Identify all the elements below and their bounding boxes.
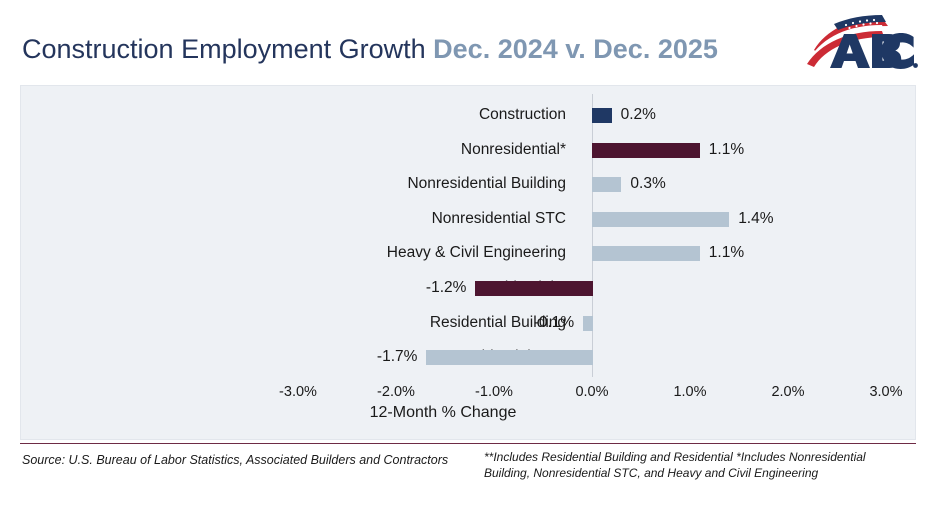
category-label: Heavy & Civil Engineering (21, 236, 566, 271)
bar-row: Residential Building-0.1% (21, 306, 915, 341)
bar-container: -1.2% (592, 271, 593, 306)
bar-container: 1.1% (592, 236, 593, 271)
x-axis-tick: 0.0% (547, 379, 637, 405)
x-axis-tick: 2.0% (743, 379, 833, 405)
bar-value-label: 0.2% (612, 98, 656, 133)
bar-container: 1.4% (592, 202, 593, 237)
bar-value-label: 1.1% (700, 133, 744, 168)
title-subtitle: Dec. 2024 v. Dec. 2025 (433, 34, 718, 64)
bar-row: Residential**-1.2% (21, 271, 915, 306)
bar[interactable] (592, 212, 729, 227)
bar-row: Construction0.2% (21, 98, 915, 133)
x-axis-tick: 1.0% (645, 379, 735, 405)
title-main: Construction Employment Growth (22, 34, 426, 64)
x-axis-tick: -1.0% (449, 379, 539, 405)
footer-divider (20, 443, 916, 444)
bar[interactable] (592, 108, 612, 123)
bar[interactable] (592, 246, 700, 261)
bar-row: Heavy & Civil Engineering1.1% (21, 236, 915, 271)
bar-container: 0.2% (592, 98, 593, 133)
x-axis-title: 12-Month % Change (21, 404, 915, 422)
bar-value-label: -0.1% (534, 306, 584, 341)
bar-container: 0.3% (592, 167, 593, 202)
x-axis-tick: -2.0% (351, 379, 441, 405)
category-label: Residential Building (21, 306, 566, 341)
plot-area: Construction0.2%Nonresidential*1.1%Nonre… (21, 86, 915, 439)
bar-container: -1.7% (592, 340, 593, 375)
abc-wordmark (830, 33, 918, 69)
abc-logo (796, 12, 918, 74)
bar-row: Nonresidential STC1.4% (21, 202, 915, 237)
bar-row: Nonresidential*1.1% (21, 133, 915, 168)
bar-container: 1.1% (592, 133, 593, 168)
bar-row: Residential STC-1.7% (21, 340, 915, 375)
x-axis-tick: 3.0% (841, 379, 931, 405)
bar[interactable] (475, 281, 593, 296)
bar-row: Nonresidential Building0.3% (21, 167, 915, 202)
bar[interactable] (583, 316, 593, 331)
bar-value-label: -1.7% (377, 340, 427, 375)
x-axis: -3.0%-2.0%-1.0%0.0%1.0%2.0%3.0% (21, 379, 915, 405)
bar[interactable] (592, 143, 700, 158)
bar-value-label: 0.3% (621, 167, 665, 202)
bar[interactable] (426, 350, 593, 365)
category-label: Nonresidential Building (21, 167, 566, 202)
bar-value-label: 1.1% (700, 236, 744, 271)
bar-value-label: 1.4% (729, 202, 773, 237)
bar-container: -0.1% (592, 306, 593, 341)
page-header: Construction Employment Growth Dec. 2024… (22, 26, 812, 72)
category-label: Nonresidential STC (21, 202, 566, 237)
x-axis-tick: -3.0% (253, 379, 343, 405)
category-label: Nonresidential* (21, 133, 566, 168)
category-label: Construction (21, 98, 566, 133)
bar[interactable] (592, 177, 621, 192)
page-title: Construction Employment Growth Dec. 2024… (22, 26, 812, 72)
chart-page: Construction Employment Growth Dec. 2024… (0, 0, 936, 505)
bar-value-label: -1.2% (426, 271, 476, 306)
source-note: Source: U.S. Bureau of Labor Statistics,… (22, 452, 452, 468)
chart-panel: Construction0.2%Nonresidential*1.1%Nonre… (20, 85, 916, 440)
footnotes: **Includes Residential Building and Resi… (484, 450, 904, 481)
